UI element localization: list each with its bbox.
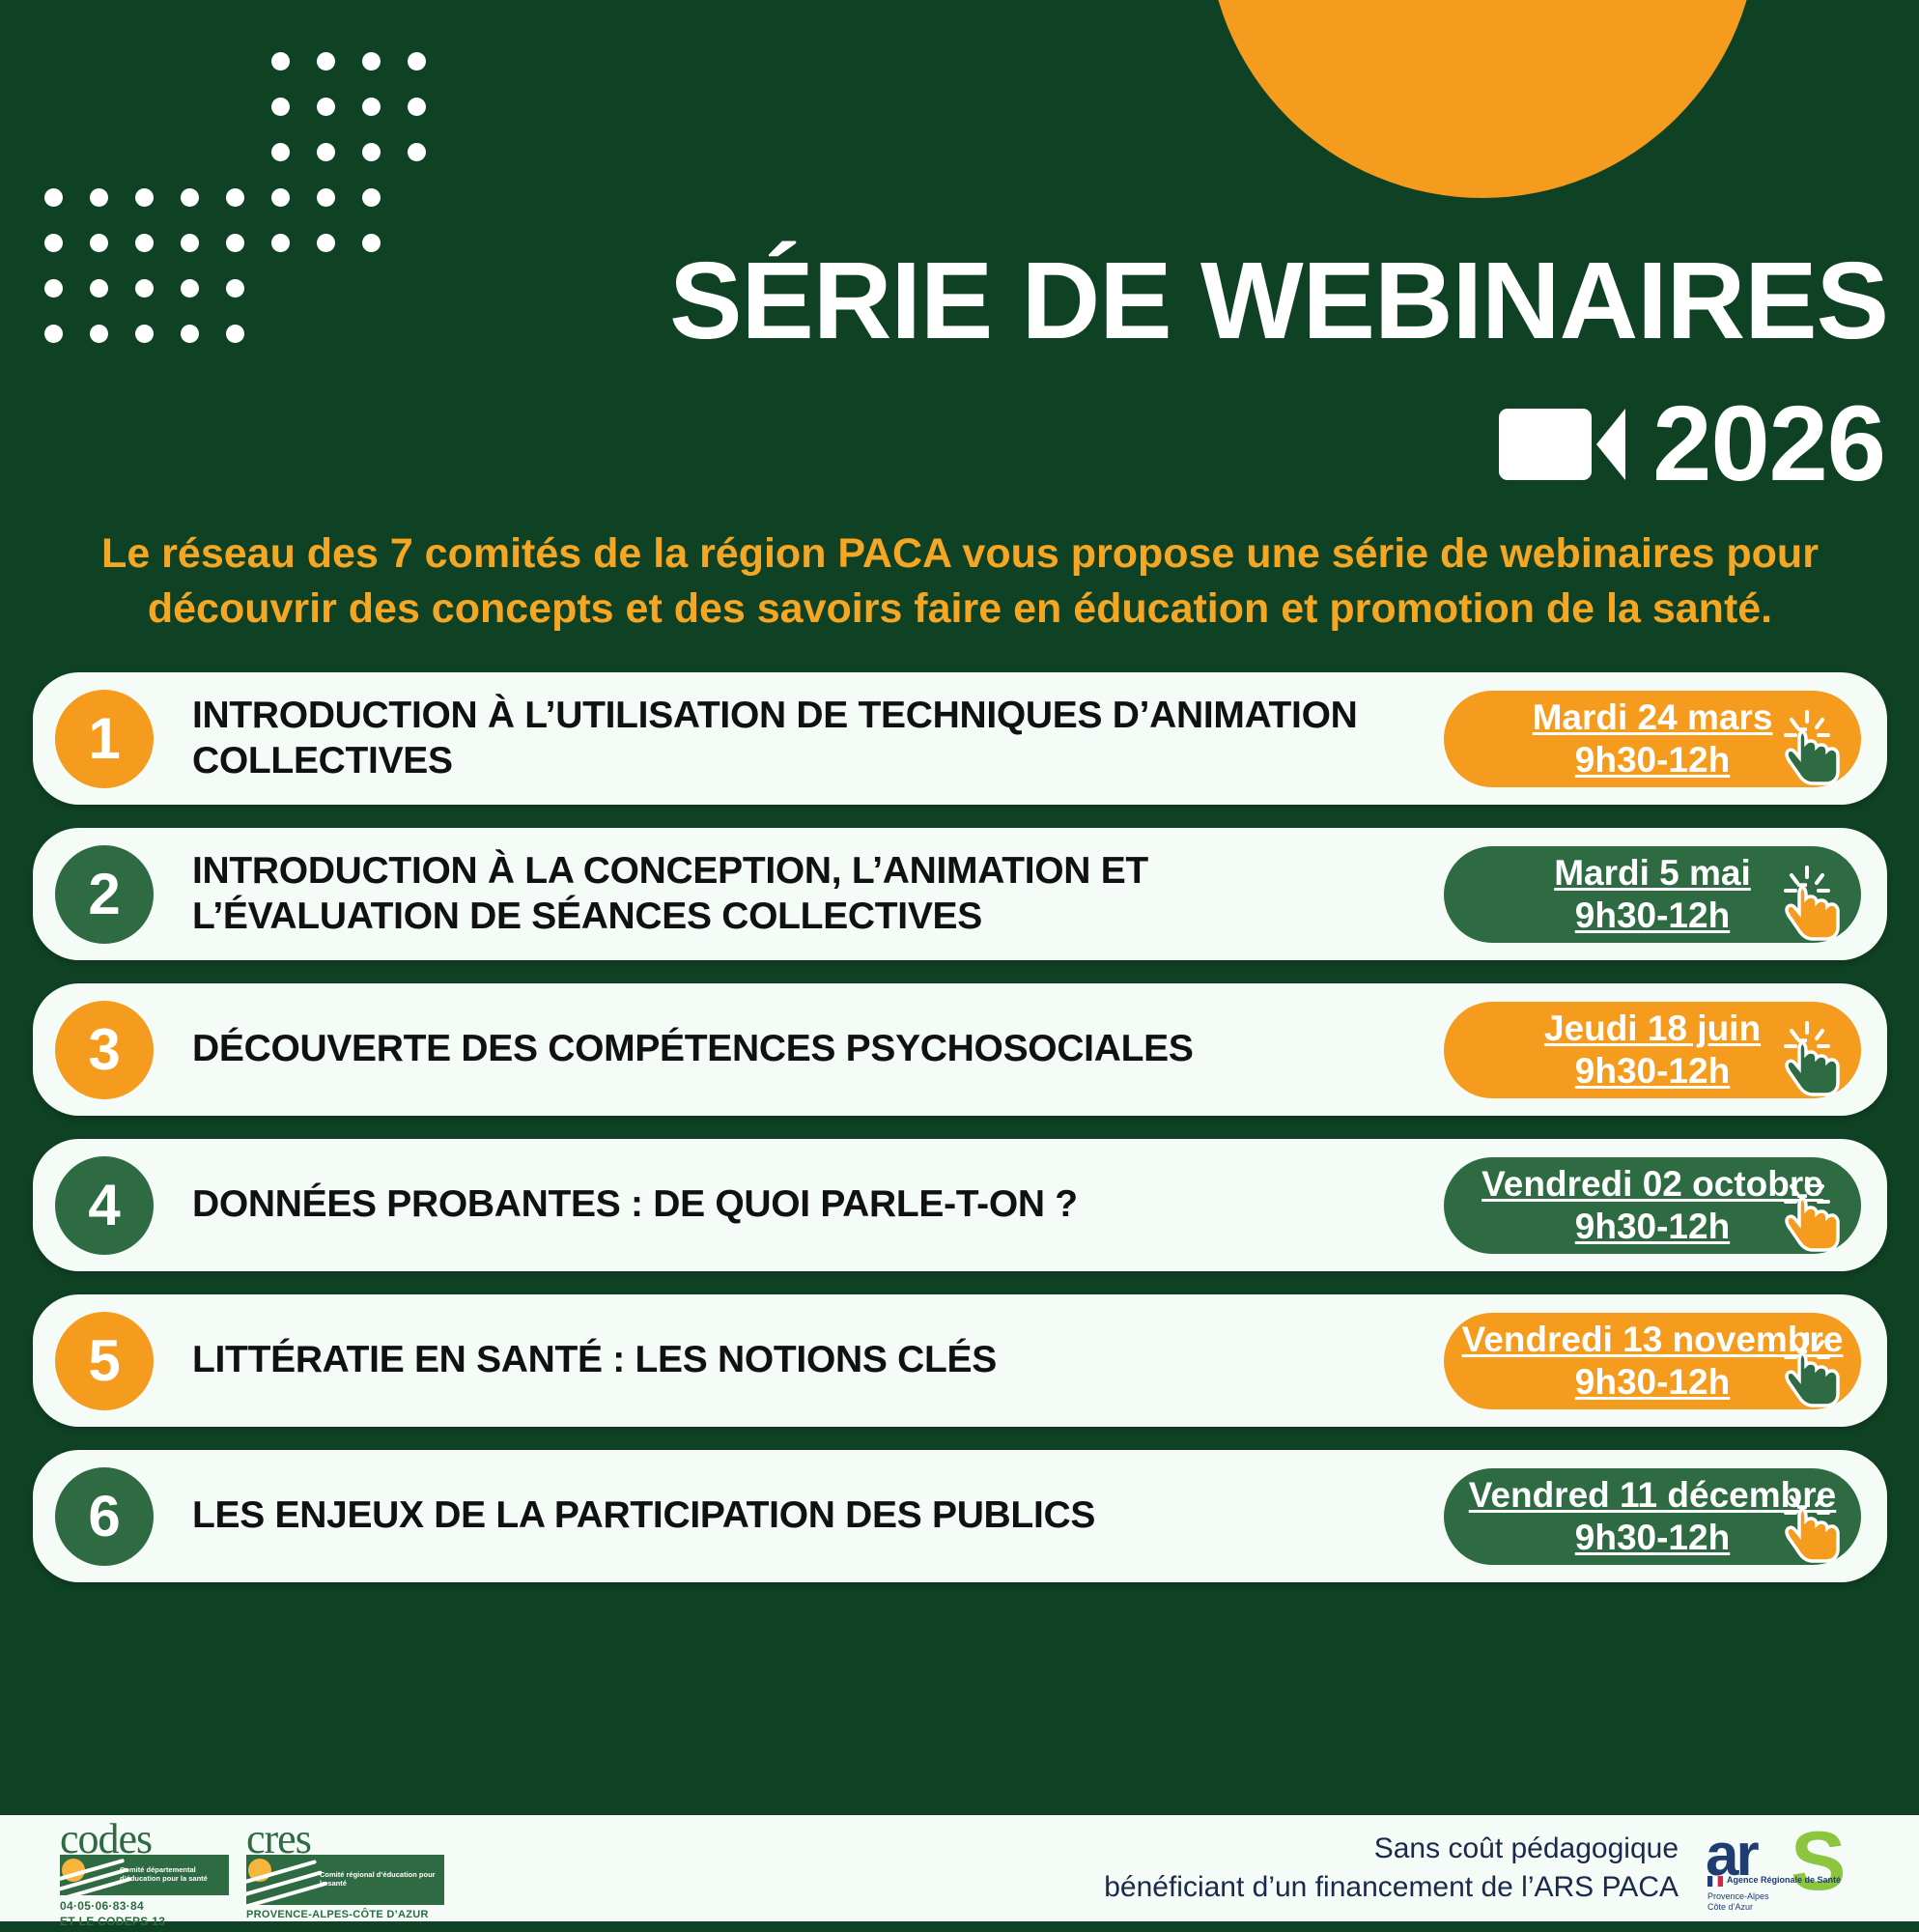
- click-cursor-icon: [1778, 864, 1851, 941]
- webinar-number-badge: 2: [55, 845, 154, 944]
- french-flag-icon: [1707, 1876, 1723, 1887]
- funding-text: Sans coût pédagogique bénéficiant d’un f…: [1104, 1830, 1679, 1908]
- codes-logo-tag-1: 04·05·06·83·84: [60, 1898, 229, 1914]
- webinar-row[interactable]: 3DÉCOUVERTE DES COMPÉTENCES PSYCHOSOCIAL…: [33, 983, 1887, 1116]
- click-cursor-icon: [1778, 1175, 1851, 1252]
- webinar-row[interactable]: 5LITTÉRATIE EN SANTÉ : LES NOTIONS CLÉSV…: [33, 1294, 1887, 1427]
- webinar-number-badge: 6: [55, 1467, 154, 1566]
- webinar-date-button[interactable]: Vendredi 02 octobre9h30-12h: [1444, 1157, 1861, 1254]
- orange-circle-decoration: [1207, 0, 1758, 198]
- footer-bar: codes Comité départemental d’éducation p…: [0, 1815, 1919, 1921]
- webinar-number-badge: 3: [55, 1001, 154, 1099]
- webinar-list: 1INTRODUCTION À L’UTILISATION DE TECHNIQ…: [33, 672, 1887, 1605]
- webinar-time: 9h30-12h: [1575, 1361, 1730, 1404]
- webinar-title: DÉCOUVERTE DES COMPÉTENCES PSYCHOSOCIALE…: [192, 1027, 1425, 1071]
- funding-line-1: Sans coût pédagogique: [1104, 1830, 1679, 1869]
- footer-logos: codes Comité départemental d’éducation p…: [60, 1818, 444, 1918]
- cres-logo: cres Comité régional d’éducation pour la…: [246, 1818, 444, 1918]
- year-label: 2026: [1652, 391, 1885, 497]
- webinar-row[interactable]: 2INTRODUCTION À LA CONCEPTION, L’ANIMATI…: [33, 828, 1887, 960]
- webinar-number-badge: 5: [55, 1312, 154, 1410]
- webinar-date-button[interactable]: Vendredi 13 novembre9h30-12h: [1444, 1313, 1861, 1409]
- cres-logo-tag: PROVENCE-ALPES-CÔTE D’AZUR: [246, 1908, 444, 1922]
- webinar-date: Mardi 24 mars: [1533, 696, 1773, 739]
- webinar-date-button[interactable]: Vendred 11 décembre9h30-12h: [1444, 1468, 1861, 1565]
- webinar-row[interactable]: 6LES ENJEUX DE LA PARTICIPATION DES PUBL…: [33, 1450, 1887, 1582]
- ars-logo-s: S: [1791, 1820, 1846, 1903]
- ars-logo-sub2: Provence-AlpesCôte d’Azur: [1707, 1891, 1769, 1914]
- webinar-title: LES ENJEUX DE LA PARTICIPATION DES PUBLI…: [192, 1493, 1425, 1538]
- funding-line-2: bénéficiant d’un financement de l’ARS PA…: [1104, 1868, 1679, 1908]
- intro-paragraph: Le réseau des 7 comités de la région PAC…: [33, 526, 1887, 637]
- webinar-title: LITTÉRATIE EN SANTÉ : LES NOTIONS CLÉS: [192, 1338, 1425, 1382]
- webinar-time: 9h30-12h: [1575, 1517, 1730, 1559]
- codes-logo-subline: Comité départemental d’éducation pour la…: [120, 1865, 222, 1884]
- page-title: SÉRIE DE WEBINAIRES: [381, 246, 1888, 355]
- ars-logo: ar S Agence Régionale de Santé Provence-…: [1706, 1822, 1876, 1915]
- webinar-row[interactable]: 1INTRODUCTION À L’UTILISATION DE TECHNIQ…: [33, 672, 1887, 805]
- click-cursor-icon: [1778, 708, 1851, 785]
- year-line: 2026: [1499, 391, 1885, 497]
- click-cursor-icon: [1778, 1019, 1851, 1096]
- webinar-date-button[interactable]: Jeudi 18 juin9h30-12h: [1444, 1002, 1861, 1098]
- video-camera-icon: [1499, 409, 1625, 480]
- webinar-date-button[interactable]: Mardi 5 mai9h30-12h: [1444, 846, 1861, 943]
- webinar-time: 9h30-12h: [1575, 739, 1730, 781]
- webinar-title: INTRODUCTION À LA CONCEPTION, L’ANIMATIO…: [192, 849, 1425, 938]
- click-cursor-icon: [1778, 1330, 1851, 1407]
- webinar-time: 9h30-12h: [1575, 1206, 1730, 1248]
- codes-logo: codes Comité départemental d’éducation p…: [60, 1818, 229, 1918]
- webinar-title: DONNÉES PROBANTES : DE QUOI PARLE-T-ON ?: [192, 1182, 1425, 1227]
- webinar-date-button[interactable]: Mardi 24 mars9h30-12h: [1444, 691, 1861, 787]
- footer-funding: Sans coût pédagogique bénéficiant d’un f…: [1104, 1822, 1876, 1915]
- webinar-date: Vendredi 02 octobre: [1482, 1163, 1823, 1206]
- webinar-time: 9h30-12h: [1575, 895, 1730, 937]
- webinar-row[interactable]: 4DONNÉES PROBANTES : DE QUOI PARLE-T-ON …: [33, 1139, 1887, 1271]
- cres-logo-subline: Comité régional d’éducation pour la sant…: [320, 1870, 436, 1889]
- ars-logo-sub1: Agence Régionale de Santé: [1727, 1876, 1841, 1886]
- poster-banner: SÉRIE DE WEBINAIRES 2026 Le réseau des 7…: [0, 0, 1919, 1712]
- webinar-number-badge: 1: [55, 690, 154, 788]
- codes-logo-tag-2: ET LE CODEPS 13: [60, 1914, 229, 1929]
- click-cursor-icon: [1778, 1486, 1851, 1563]
- webinar-date: Mardi 5 mai: [1554, 852, 1751, 895]
- webinar-number-badge: 4: [55, 1156, 154, 1255]
- webinar-title: INTRODUCTION À L’UTILISATION DE TECHNIQU…: [192, 694, 1425, 782]
- webinar-time: 9h30-12h: [1575, 1050, 1730, 1093]
- webinar-date: Jeudi 18 juin: [1544, 1008, 1761, 1050]
